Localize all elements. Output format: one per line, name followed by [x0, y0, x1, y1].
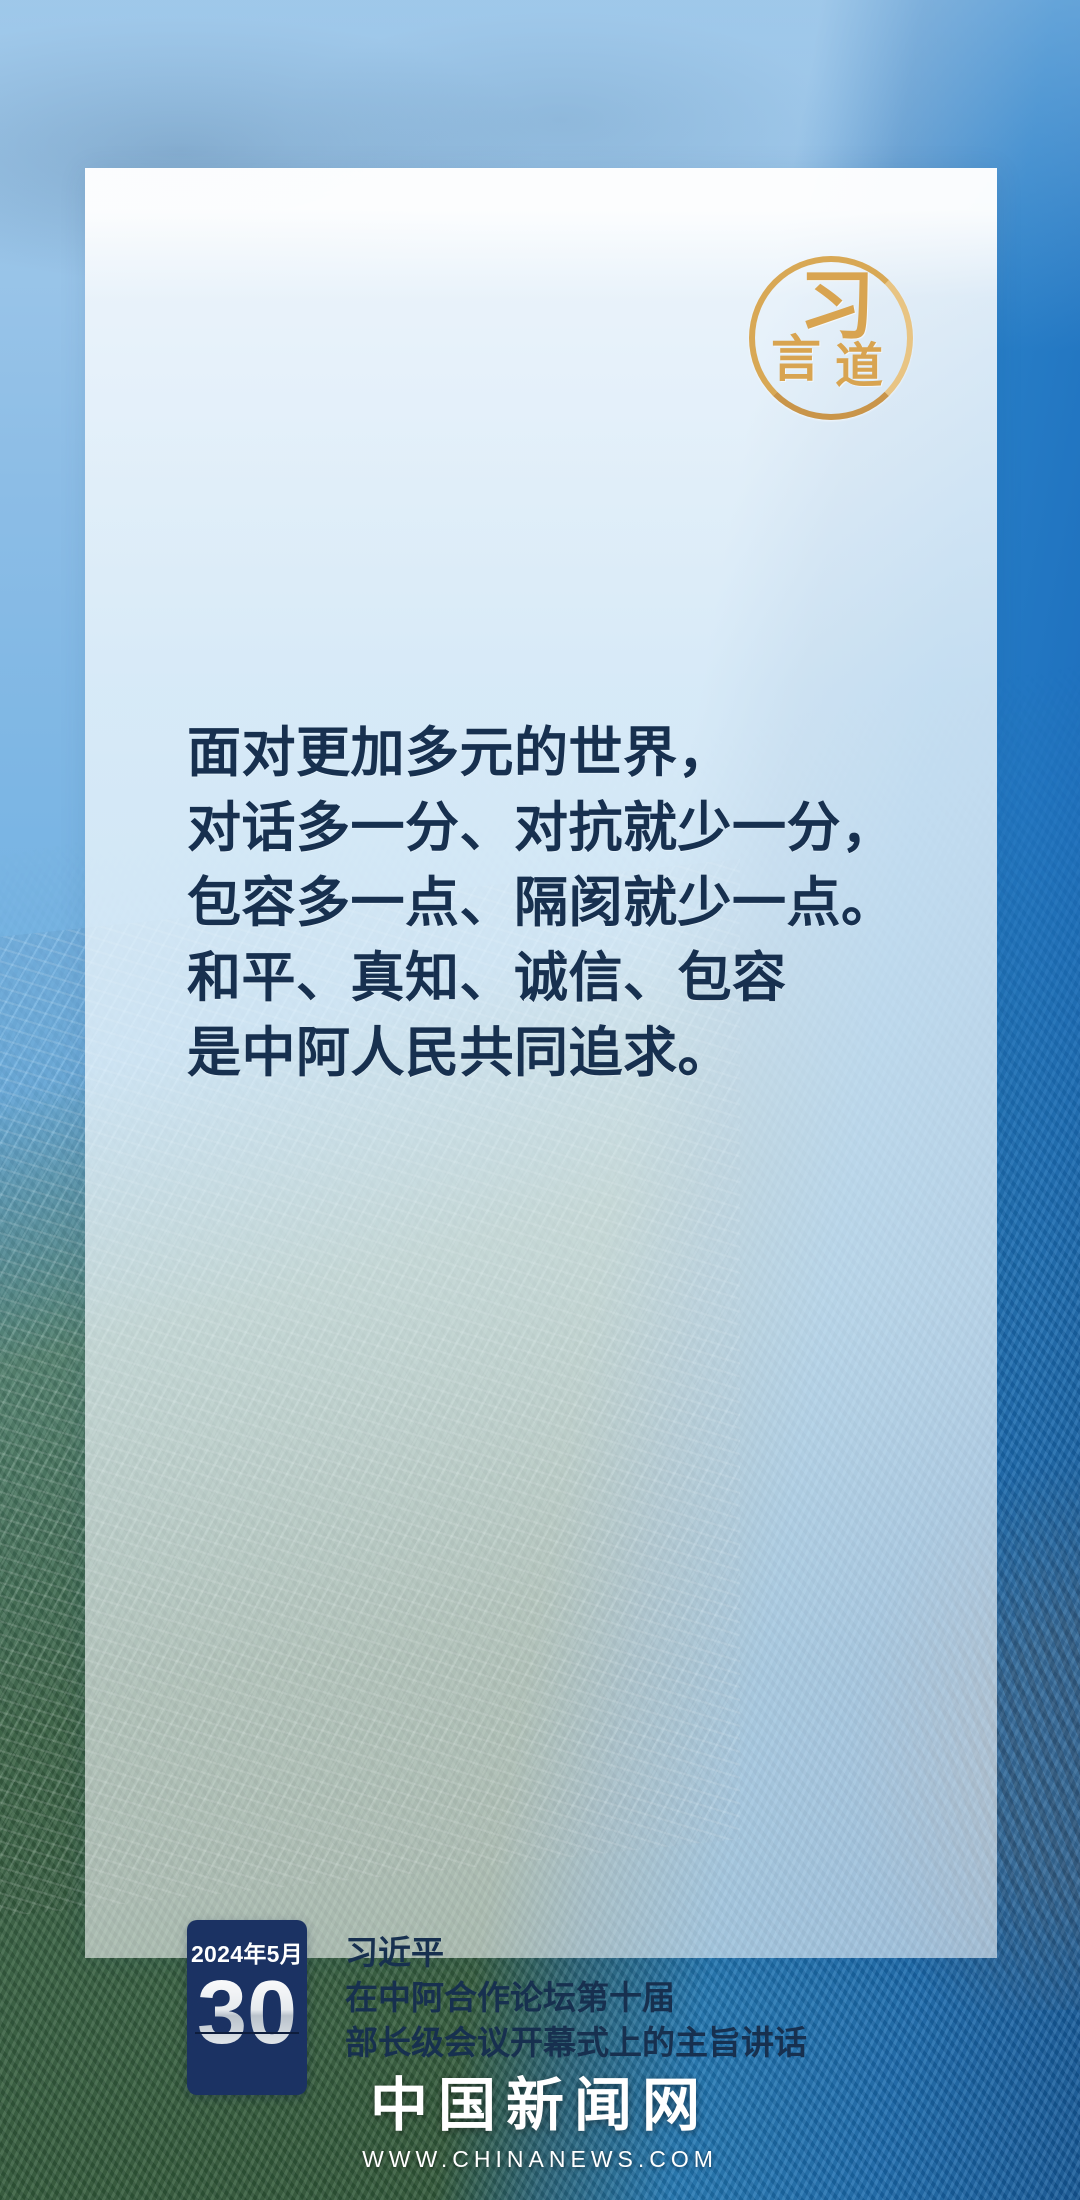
xi-yan-dao-seal-icon: 习 言 道 — [749, 256, 913, 420]
brand-watermark: 中国新闻网 WWW.CHINANEWS.COM — [0, 2058, 1080, 2173]
content-card: 习 言 道 面对更加多元的世界， 对话多一分、对抗就少一分， 包容多一点、隔阂就… — [85, 168, 997, 1958]
quote-line: 对话多一分、对抗就少一分， — [187, 791, 887, 866]
brand-name-cn: 中国新闻网 — [370, 2058, 710, 2142]
attribution-block: 习近平 在中阿合作论坛第十届 部长级会议开幕式上的主旨讲话 — [345, 1920, 807, 2065]
quote-line: 面对更加多元的世界， — [187, 716, 887, 791]
poster-root: 习 言 道 面对更加多元的世界， 对话多一分、对抗就少一分， 包容多一点、隔阂就… — [0, 0, 1080, 2200]
attribution-speaker: 习近平 — [345, 1930, 807, 1975]
seal-char-dao: 道 — [835, 342, 883, 390]
quote-block: 面对更加多元的世界， 对话多一分、对抗就少一分， 包容多一点、隔阂就少一点。 和… — [187, 716, 887, 1091]
attribution-line-2: 在中阿合作论坛第十届 — [345, 1975, 807, 2020]
quote-line: 是中阿人民共同追求。 — [187, 1016, 887, 1091]
quote-line: 和平、真知、诚信、包容 — [187, 941, 887, 1016]
date-day: 30 — [197, 1971, 297, 2057]
quote-line: 包容多一点、隔阂就少一点。 — [187, 866, 887, 941]
seal-char-yan: 言 — [771, 334, 821, 384]
brand-url: WWW.CHINANEWS.COM — [362, 2146, 718, 2173]
date-flip-divider — [195, 2032, 299, 2034]
